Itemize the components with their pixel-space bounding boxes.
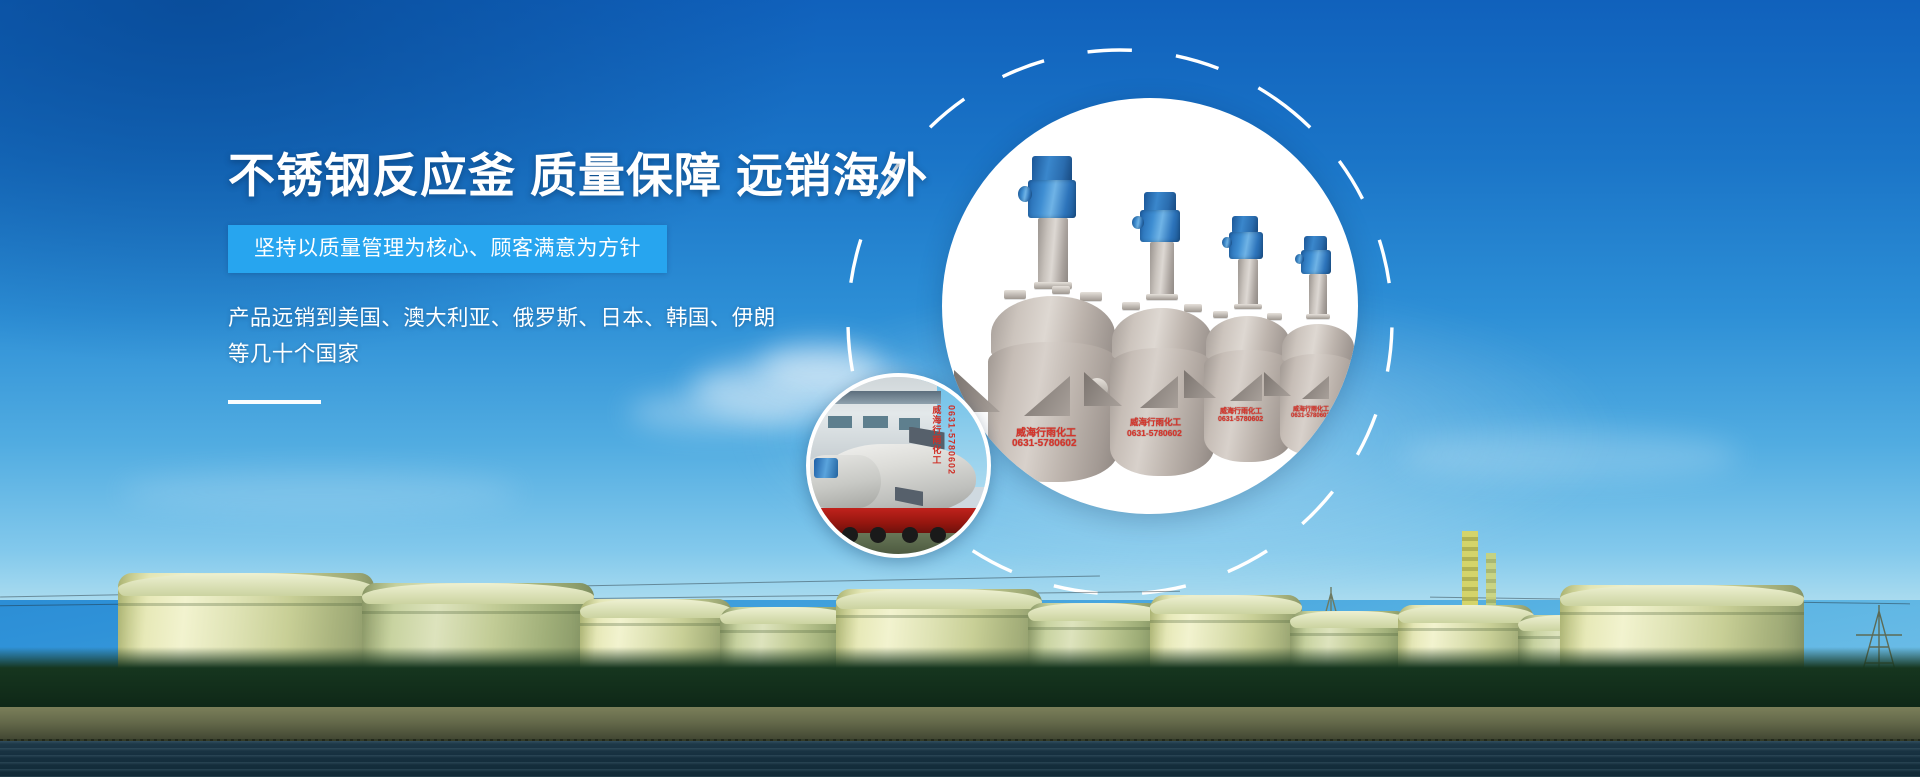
reactor-vessel-2: 威海行雨化工 0631-5780602 xyxy=(1110,190,1214,476)
cloud-4 xyxy=(1400,430,1740,480)
product-watermark-company: 威海行雨化工 xyxy=(1016,424,1076,439)
product-watermark-company: 威海行雨化工 xyxy=(1293,404,1329,413)
banner-body-line-1: 产品远销到美国、澳大利亚、俄罗斯、日本、韩国、伊朗 xyxy=(228,300,868,337)
motor-housing xyxy=(1301,250,1331,274)
motor-housing-top xyxy=(1144,192,1176,212)
banner-copy-block: 不锈钢反应釜 质量保障 远销海外 坚持以质量管理为核心、顾客满意为方针 产品远销… xyxy=(228,150,868,404)
banner-tagline-badge: 坚持以质量管理为核心、顾客满意为方针 xyxy=(228,225,667,273)
nozzle-flange xyxy=(1184,304,1202,312)
motor-cap xyxy=(1222,237,1232,248)
reactor-vessel-3: 威海行雨化工 0631-5780602 xyxy=(1204,214,1292,462)
inset-window xyxy=(863,416,888,428)
motor-housing-top xyxy=(1032,156,1072,182)
nozzle-flange xyxy=(1213,311,1228,318)
inset-truck-bed xyxy=(817,508,983,533)
decorative-rule xyxy=(228,400,321,404)
product-watermark-company: 威海行雨化工 xyxy=(1130,416,1181,428)
banner-body-line-2: 等几十个国家 xyxy=(228,336,868,373)
inset-watermark-phone: 0631-5780602 xyxy=(946,405,956,475)
product-watermark-phone: 0631-5780602 xyxy=(1291,413,1330,419)
water-ripples xyxy=(0,741,1920,777)
motor-housing xyxy=(1028,180,1076,218)
agitator-shaft-housing xyxy=(1038,218,1068,286)
nozzle-flange xyxy=(1004,290,1026,299)
agitator-shaft-housing xyxy=(1150,242,1174,298)
shaft-flange xyxy=(1146,294,1178,300)
reactor-vessel-1: 威海行雨化工 0631-5780602 xyxy=(988,152,1118,482)
agitator-shaft-housing xyxy=(1309,274,1327,316)
product-watermark-company: 威海行雨化工 xyxy=(1220,406,1262,416)
shaft-flange xyxy=(1306,314,1330,319)
nozzle-flange xyxy=(1122,302,1140,310)
product-photo-circle-large: 威海行雨化工 0631-5780602 威海行雨化工 0631-5780602 xyxy=(942,98,1358,514)
nozzle-flange xyxy=(1080,292,1102,301)
motor-cap xyxy=(1295,254,1304,264)
nozzle-flange xyxy=(1052,286,1070,294)
reactor-vessel-4: 威海行雨化工 0631-5780602 xyxy=(1280,234,1356,456)
motor-cap xyxy=(1132,216,1144,229)
banner-headline: 不锈钢反应釜 质量保障 远销海外 xyxy=(228,150,868,203)
product-watermark-phone: 0631-5780602 xyxy=(1218,416,1263,423)
inset-ground xyxy=(810,529,987,554)
inset-window xyxy=(828,416,853,428)
quay-wall xyxy=(0,707,1920,741)
motor-housing-top xyxy=(1304,236,1327,251)
motor-housing-top xyxy=(1232,216,1258,233)
vessel-shell xyxy=(1110,348,1214,476)
agitator-shaft-housing xyxy=(1238,259,1258,307)
motor-housing xyxy=(1229,232,1263,259)
shaft-flange xyxy=(1234,304,1262,309)
banner-body-text: 产品远销到美国、澳大利亚、俄罗斯、日本、韩国、伊朗 等几十个国家 xyxy=(228,300,868,373)
inset-watermark-company: 威海行雨化工 xyxy=(930,405,943,465)
motor-housing xyxy=(1140,210,1180,242)
inset-motor xyxy=(814,458,839,477)
motor-cap xyxy=(1018,186,1032,202)
product-watermark-phone: 0631-5780602 xyxy=(1012,438,1077,449)
product-watermark-phone: 0631-5780602 xyxy=(1127,428,1182,438)
hero-banner: 不锈钢反应釜 质量保障 远销海外 坚持以质量管理为核心、顾客满意为方针 产品远销… xyxy=(0,0,1920,777)
